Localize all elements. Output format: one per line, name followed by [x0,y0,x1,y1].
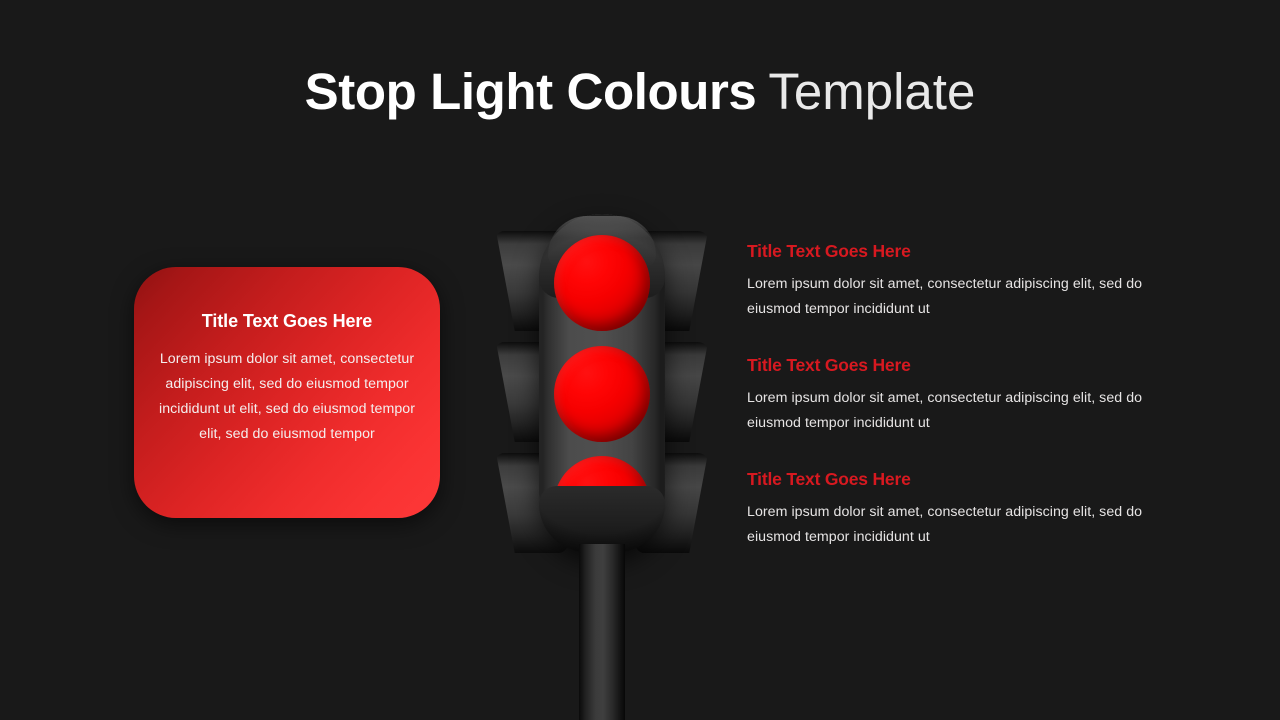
traffic-light-pole [579,544,625,720]
text-block-3: Title Text Goes Here Lorem ipsum dolor s… [747,469,1147,550]
slide-canvas: Stop Light ColoursTemplate Title Text Go… [0,0,1280,720]
text-block-3-body: Lorem ipsum dolor sit amet, consectetur … [747,500,1147,550]
text-block-2: Title Text Goes Here Lorem ipsum dolor s… [747,355,1147,436]
traffic-light-lamp-top[interactable] [554,235,650,331]
red-card-body: Lorem ipsum dolor sit amet, consectetur … [156,347,418,447]
text-block-3-title: Title Text Goes Here [747,469,1147,490]
traffic-light-lamp-middle[interactable] [554,346,650,442]
text-block-1: Title Text Goes Here Lorem ipsum dolor s… [747,241,1147,322]
text-block-2-title: Title Text Goes Here [747,355,1147,376]
red-info-card[interactable]: Title Text Goes Here Lorem ipsum dolor s… [134,267,440,518]
text-block-1-title: Title Text Goes Here [747,241,1147,262]
page-title-light: Template [768,63,975,120]
traffic-light-illustration [496,206,708,720]
red-card-title: Title Text Goes Here [156,311,418,332]
page-title-strong: Stop Light Colours [305,63,757,120]
text-block-1-body: Lorem ipsum dolor sit amet, consectetur … [747,272,1147,322]
text-block-2-body: Lorem ipsum dolor sit amet, consectetur … [747,386,1147,436]
right-text-column: Title Text Goes Here Lorem ipsum dolor s… [747,241,1147,550]
page-title: Stop Light ColoursTemplate [0,62,1280,121]
